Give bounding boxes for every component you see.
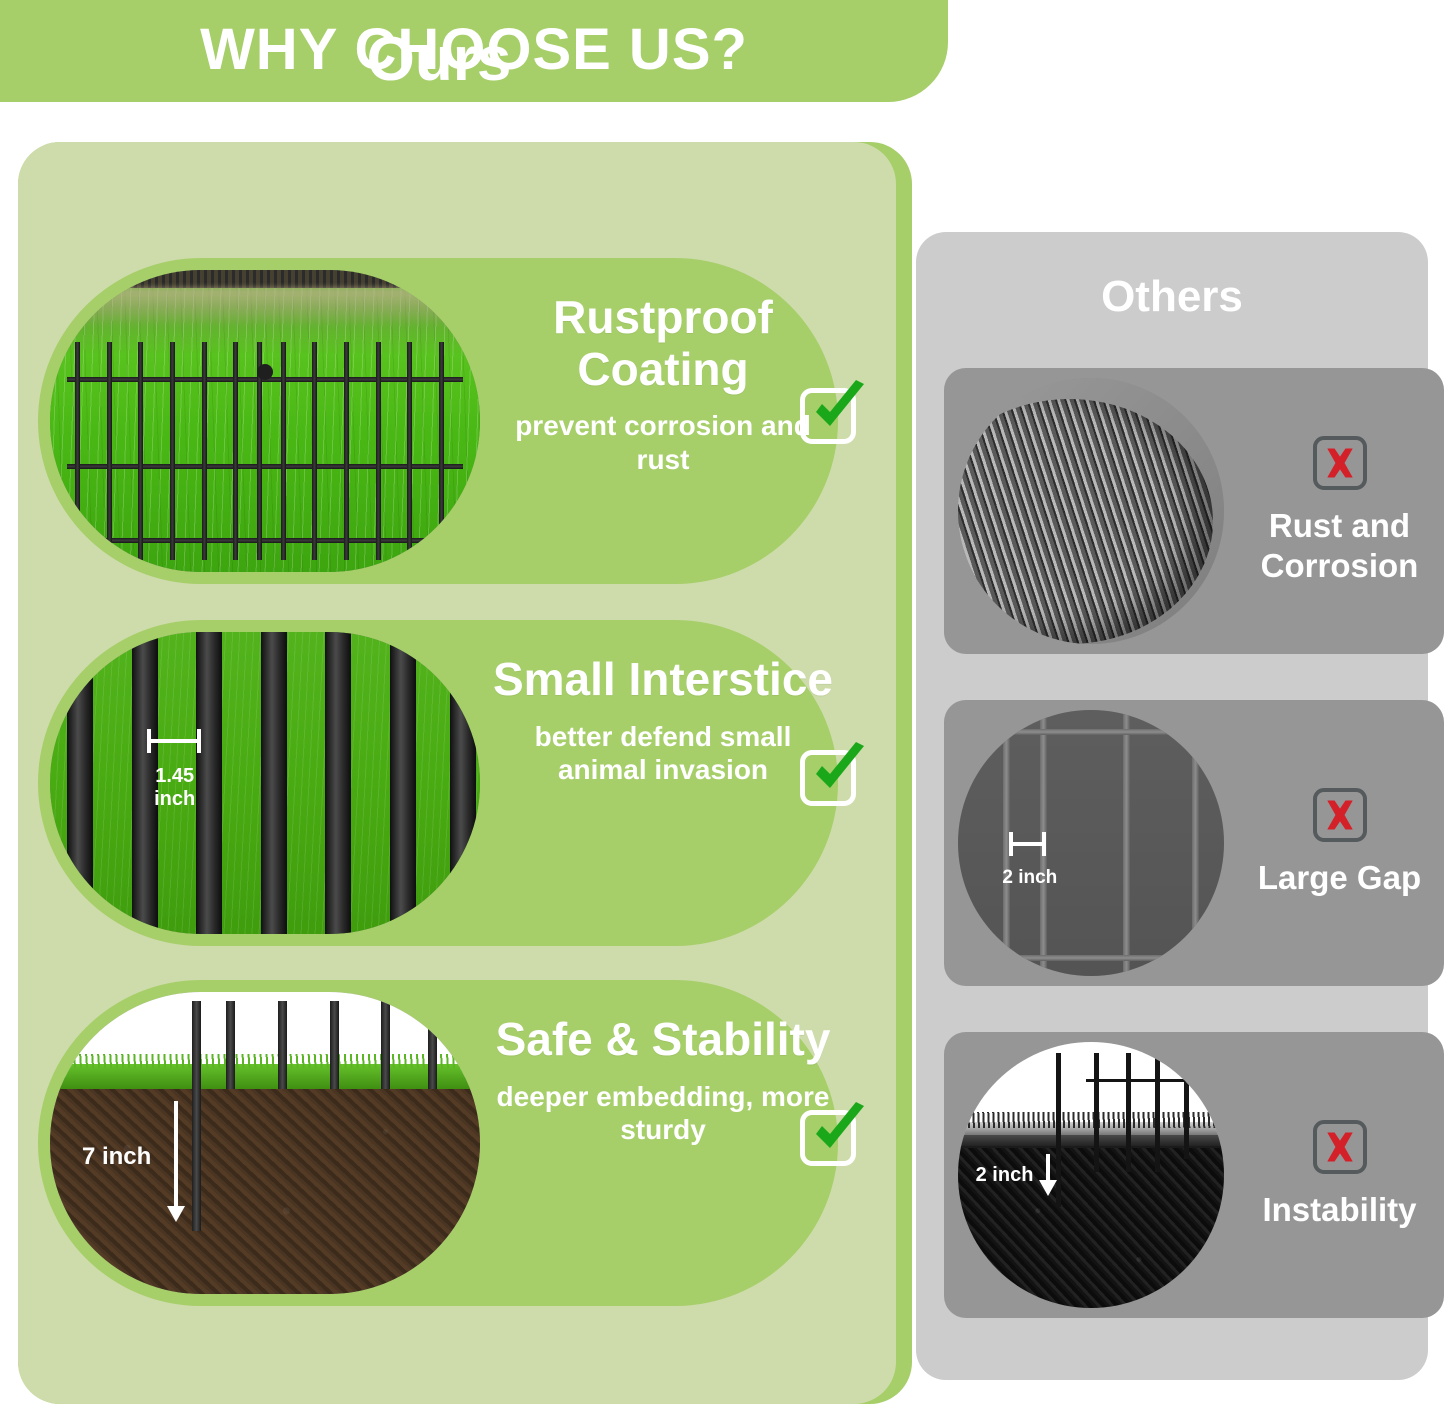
others-feature-label: Instability [1262, 1190, 1416, 1230]
ours-text-block: Rustproof Coating prevent corrosion and … [488, 278, 838, 476]
ours-feature-title: Small Interstice [488, 640, 838, 706]
ours-feature-row: 1.45 inch Small Interstice better defend… [38, 620, 838, 946]
ours-text-block: Small Interstice better defend small ani… [488, 640, 838, 787]
others-feature-row: 2 inch Instability [944, 1032, 1444, 1318]
x-mark-glyph [1320, 795, 1360, 835]
gap-measure-label: 2 inch [995, 867, 1064, 889]
others-feature-label: Rust and Corrosion [1232, 506, 1445, 585]
others-heading: Others [916, 272, 1428, 322]
others-feature-label: Large Gap [1258, 858, 1421, 898]
check-mark-glyph [804, 1098, 874, 1168]
others-text-block: Instability [1232, 1032, 1445, 1318]
ours-feature-row: 7 inch Safe & Stability deeper embedding… [38, 980, 838, 1306]
soil-cross-section [50, 1086, 480, 1294]
ours-feature-subtitle: prevent corrosion and rust [488, 409, 838, 476]
others-photo-instability: 2 inch [958, 1042, 1224, 1308]
others-text-block: Large Gap [1232, 700, 1445, 986]
others-text-block: Rust and Corrosion [1232, 368, 1445, 654]
treeline [50, 270, 480, 288]
ours-feature-title: Safe & Stability [488, 1000, 838, 1066]
x-icon [1313, 436, 1367, 490]
ours-feature-title: Rustproof Coating [488, 278, 838, 395]
others-feature-row: Rust and Corrosion [944, 368, 1444, 654]
ours-feature-subtitle: better defend small animal invasion [488, 720, 838, 787]
others-feature-row: 2 inch Large Gap [944, 700, 1444, 986]
dirt-band [50, 288, 480, 324]
ours-feature-row: Rustproof Coating prevent corrosion and … [38, 258, 838, 584]
check-icon [800, 382, 866, 444]
ours-feature-subtitle: deeper embedding, more sturdy [488, 1080, 838, 1147]
x-mark-glyph [1320, 1127, 1360, 1167]
x-mark-glyph [1320, 443, 1360, 483]
x-icon [1313, 1120, 1367, 1174]
gap-measure-label: 1.45 inch [136, 765, 213, 811]
check-icon [800, 744, 866, 806]
check-mark-glyph [804, 738, 874, 808]
check-mark-glyph [804, 376, 874, 446]
ours-photo-rustproof-coating [50, 270, 480, 572]
fence-grid-icon [67, 342, 463, 559]
grass-turf-layer [50, 1064, 480, 1088]
ours-heading: Ours [0, 24, 878, 95]
ours-photo-small-interstice: 1.45 inch [50, 632, 480, 934]
ours-text-block: Safe & Stability deeper embedding, more … [488, 1000, 838, 1147]
ours-photo-safe-stability: 7 inch [50, 992, 480, 1294]
others-photo-rust-corrosion [958, 378, 1224, 644]
others-photo-large-gap: 2 inch [958, 710, 1224, 976]
x-icon [1313, 788, 1367, 842]
depth-measure-label: 2 inch [966, 1164, 1043, 1187]
depth-measure-label: 7 inch [67, 1143, 166, 1171]
check-icon [800, 1104, 866, 1166]
depth-arrow [166, 1101, 186, 1222]
dark-gray-background [958, 710, 1224, 976]
